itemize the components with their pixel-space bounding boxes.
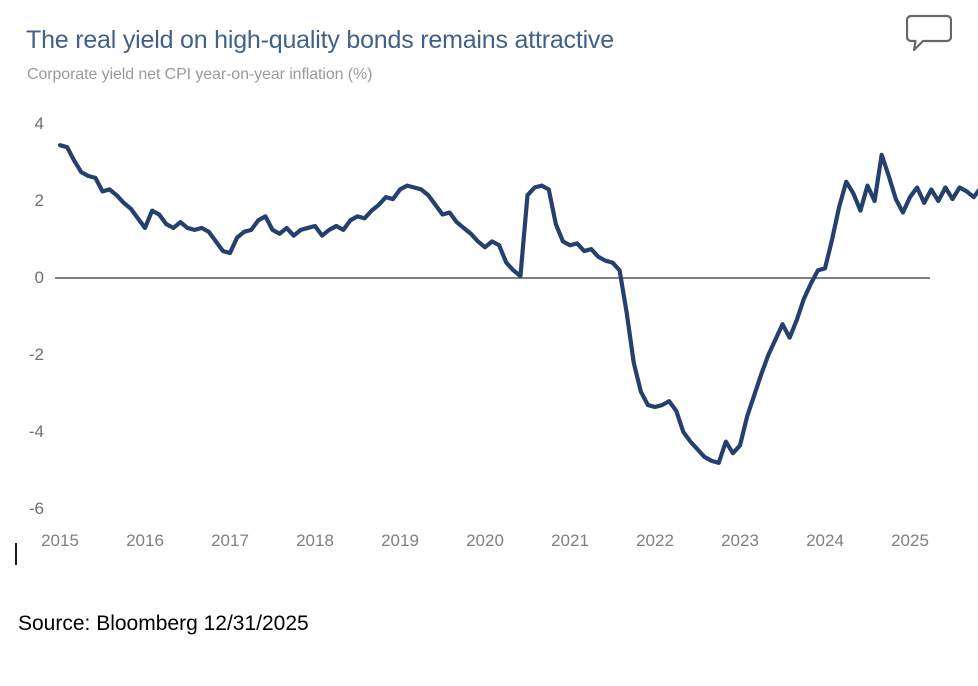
chart-plot-area: 420-2-4-6 201520162017201820192020202120… <box>0 0 978 560</box>
y-axis-tick-label: 4 <box>0 114 44 134</box>
y-axis-tick-label: -6 <box>0 499 44 519</box>
y-axis-tick-label: 0 <box>0 268 44 288</box>
y-axis-tick-label: -2 <box>0 345 44 365</box>
y-axis-tick-label: 2 <box>0 191 44 211</box>
x-axis-tick-label: 2018 <box>296 531 334 551</box>
text-cursor-caret <box>15 543 17 565</box>
source-note: Source: Bloomberg 12/31/2025 <box>18 612 309 636</box>
x-axis-tick-label: 2015 <box>41 531 79 551</box>
y-axis-tick-label: -4 <box>0 422 44 442</box>
x-axis-tick-label: 2024 <box>806 531 844 551</box>
x-axis-tick-label: 2023 <box>721 531 759 551</box>
x-axis-tick-label: 2019 <box>381 531 419 551</box>
x-axis-tick-label: 2021 <box>551 531 589 551</box>
data-series-line <box>60 145 978 463</box>
x-axis-tick-label: 2017 <box>211 531 249 551</box>
chart-page: The real yield on high-quality bonds rem… <box>0 0 978 686</box>
x-axis-tick-label: 2020 <box>466 531 504 551</box>
x-axis-tick-label: 2022 <box>636 531 674 551</box>
x-axis-tick-label: 2016 <box>126 531 164 551</box>
x-axis-tick-label: 2025 <box>891 531 929 551</box>
chart-svg <box>0 0 978 560</box>
